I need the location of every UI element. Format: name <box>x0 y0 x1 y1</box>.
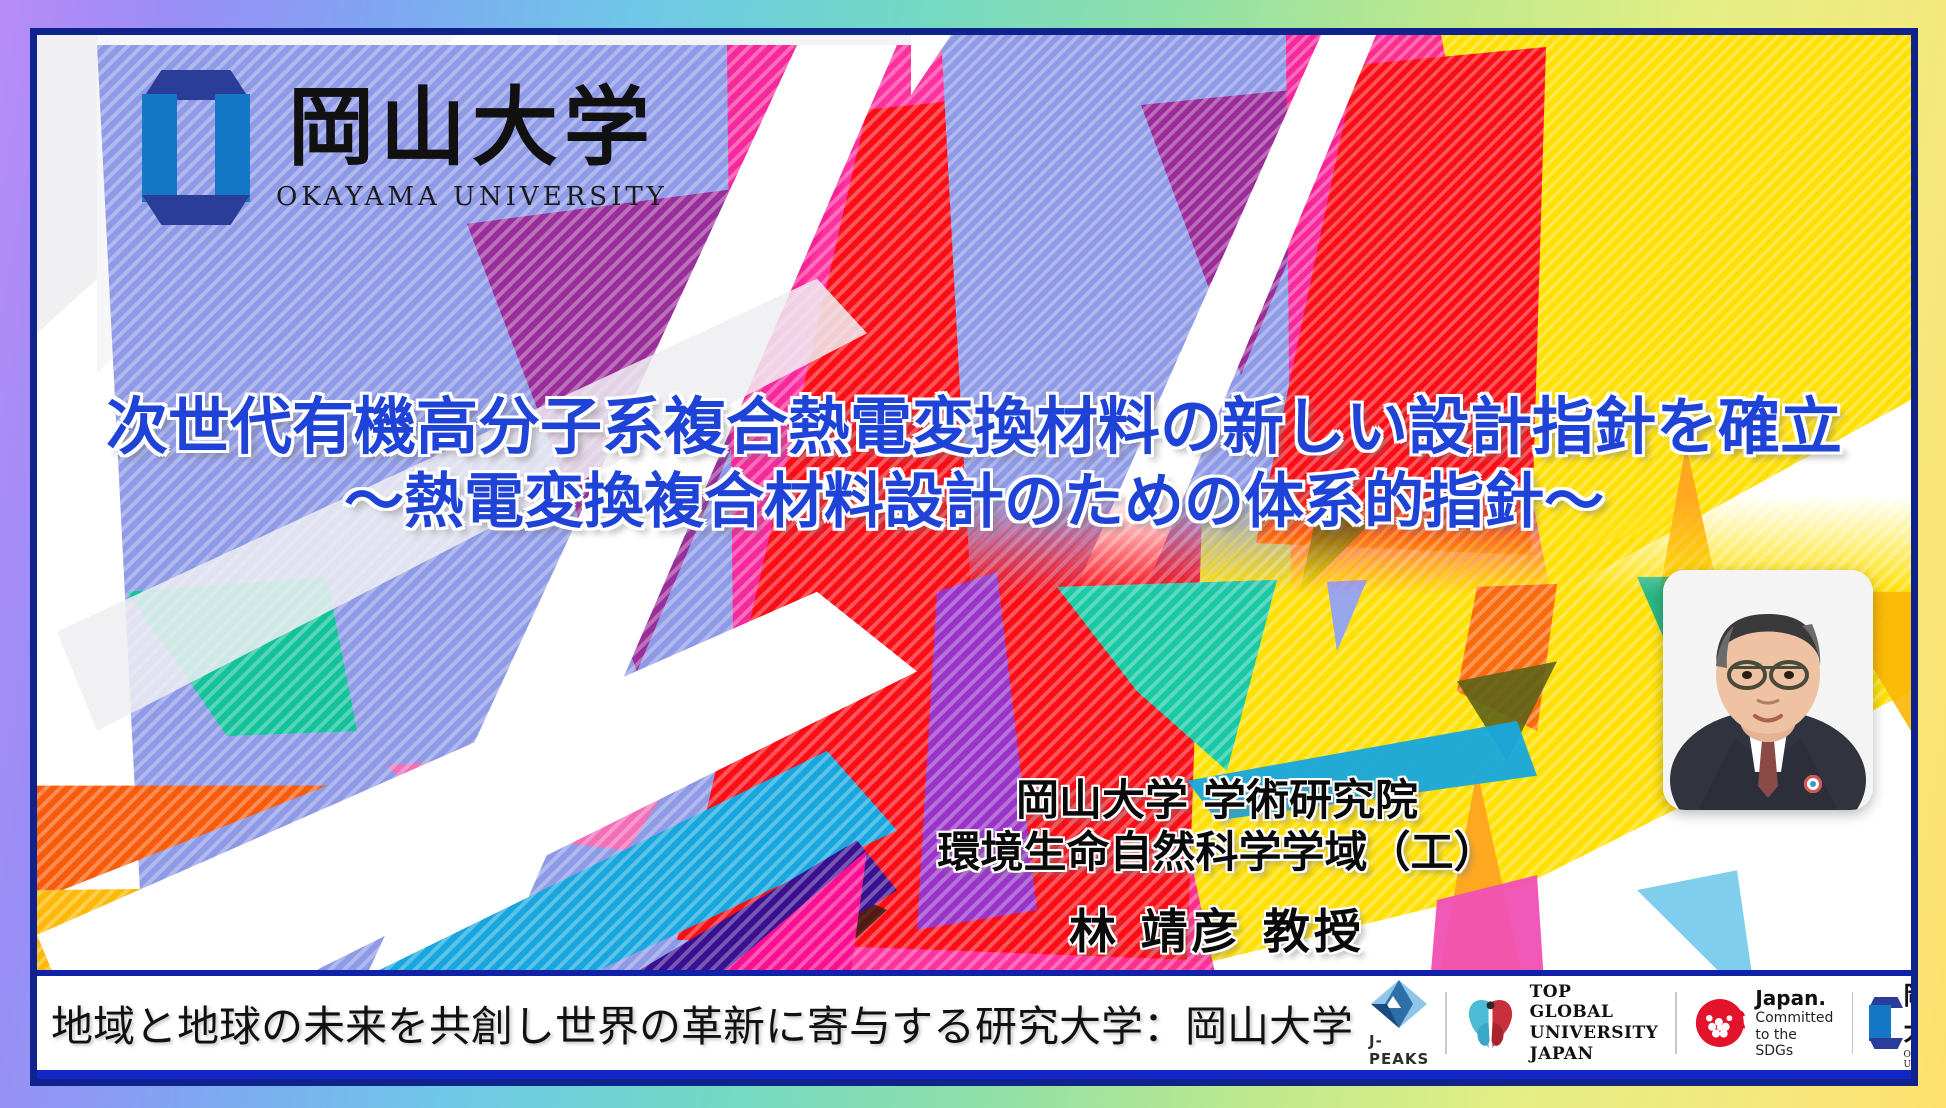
poster-inner-frame: 岡山大学 OKAYAMA UNIVERSITY 次世代有機高分子系複合熱電変換材… <box>30 28 1918 1086</box>
avatar <box>1663 570 1873 810</box>
sdgs-line-1: Japan. <box>1755 986 1835 1010</box>
j-peaks-label: J-PEAKS <box>1369 1032 1429 1068</box>
tgu-line-1: TOP GLOBAL <box>1530 982 1660 1023</box>
poster-root: 岡山大学 OKAYAMA UNIVERSITY 次世代有機高分子系複合熱電変換材… <box>0 0 1946 1108</box>
sakura-circle-icon <box>1693 995 1747 1051</box>
footer-logo-strip: J-PEAKS TOP GLOBAL <box>1353 976 1918 1070</box>
page-subtitle: 〜熱電変換複合材料設計のための体系的指針〜 <box>37 467 1911 538</box>
okayama-university-mark-icon <box>142 70 250 225</box>
affiliation-line-2: 環境生命自然科学学域（工） <box>797 827 1637 879</box>
title-block: 次世代有機高分子系複合熱電変換材料の新しい設計指針を確立 〜熱電変換複合材料設計… <box>37 390 1911 538</box>
professor-portrait-photo <box>1663 570 1873 810</box>
logo-okayama-university: 岡山大学 OKAYAMA UNIVERSITY <box>1853 985 1918 1061</box>
footer-tagline: 地域と地球の未来を共創し世界の革新に寄与する研究大学：岡山大学 <box>37 993 1353 1054</box>
tgu-line-3: JAPAN <box>1530 1044 1660 1065</box>
logo-japan-sdgs: Japan. Committed to the SDGs <box>1677 985 1852 1061</box>
okayama-university-mark-icon-small <box>1869 997 1891 1049</box>
tgu-line-2: UNIVERSITY <box>1530 1023 1660 1044</box>
okayama-label-jp: 岡山大学 <box>1903 976 1918 1048</box>
university-name-jp: 岡山大学 <box>288 83 656 173</box>
sdgs-line-3: to the SDGs <box>1755 1027 1835 1061</box>
okayama-label-en: OKAYAMA UNIVERSITY <box>1903 1050 1918 1070</box>
researcher-name: 林 靖彦 教授 <box>797 904 1637 961</box>
footer-bar: 地域と地球の未来を共創し世界の革新に寄与する研究大学：岡山大学 J-PEAKS <box>37 970 1911 1079</box>
logo-j-peaks: J-PEAKS <box>1353 985 1445 1061</box>
butterfly-icon <box>1463 993 1520 1053</box>
j-peaks-mountain-icon <box>1369 978 1429 1030</box>
page-title: 次世代有機高分子系複合熱電変換材料の新しい設計指針を確立 <box>37 390 1911 463</box>
affiliation-line-1: 岡山大学 学術研究院 <box>797 775 1637 827</box>
university-name-en: OKAYAMA UNIVERSITY <box>276 182 668 212</box>
university-logo: 岡山大学 OKAYAMA UNIVERSITY <box>142 70 668 225</box>
sdgs-line-2: Committed <box>1755 1010 1835 1027</box>
affiliation-block: 岡山大学 学術研究院 環境生命自然科学学域（工） 林 靖彦 教授 <box>797 775 1637 961</box>
logo-top-global-university: TOP GLOBAL UNIVERSITY JAPAN <box>1447 985 1676 1061</box>
